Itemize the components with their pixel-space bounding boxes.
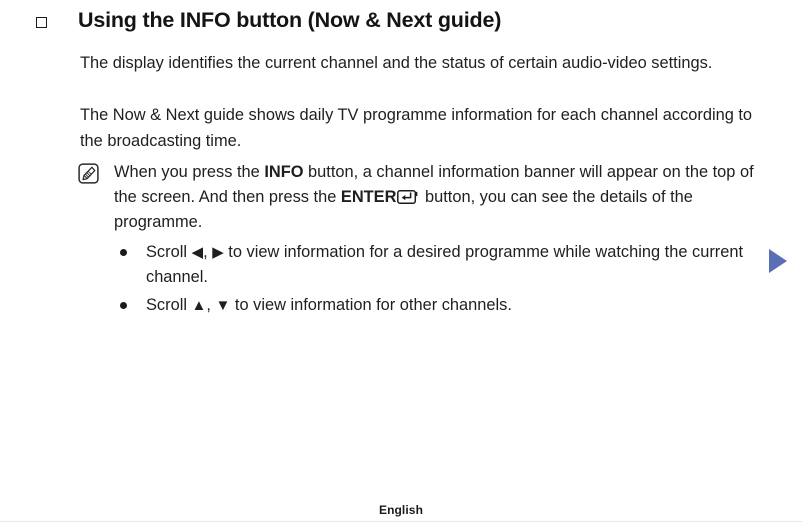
manual-page: Using the INFO button (Now & Next guide)… bbox=[0, 0, 802, 525]
arrow-down-icon: ▼ bbox=[216, 297, 231, 314]
next-page-arrow-icon[interactable] bbox=[769, 249, 787, 273]
dot-bullet-icon bbox=[120, 249, 127, 256]
list-item-text: Scroll ▲, ▼ to view information for othe… bbox=[146, 293, 756, 318]
note-keyword-enter: ENTER bbox=[341, 188, 397, 206]
section-heading: Using the INFO button (Now & Next guide) bbox=[36, 8, 766, 33]
arrow-up-icon: ▲ bbox=[192, 297, 207, 314]
enter-return-key-icon bbox=[397, 190, 419, 204]
note-text: When you press the INFO button, a channe… bbox=[114, 160, 768, 235]
body-paragraph-2: The Now & Next guide shows daily TV prog… bbox=[80, 102, 760, 154]
list-item-separator: , bbox=[206, 296, 215, 314]
hollow-square-bullet-icon bbox=[36, 17, 50, 31]
footer-language-label: English bbox=[0, 503, 802, 517]
arrow-left-icon: ◀ bbox=[192, 244, 204, 261]
scroll-instruction-list: Scroll ◀, ▶ to view information for a de… bbox=[120, 240, 770, 321]
note-block: When you press the INFO button, a channe… bbox=[78, 160, 768, 235]
list-item-separator: , bbox=[203, 243, 212, 261]
page-title: Using the INFO button (Now & Next guide) bbox=[78, 8, 501, 33]
arrow-right-icon: ▶ bbox=[212, 244, 224, 261]
list-item-suffix: to view information for other channels. bbox=[230, 296, 512, 314]
list-item-text: Scroll ◀, ▶ to view information for a de… bbox=[146, 240, 756, 290]
list-item: Scroll ▲, ▼ to view information for othe… bbox=[120, 293, 770, 318]
note-keyword-info: INFO bbox=[264, 163, 303, 181]
list-item-suffix: to view information for a desired progra… bbox=[146, 243, 743, 286]
list-item-prefix: Scroll bbox=[146, 296, 192, 314]
list-item: Scroll ◀, ▶ to view information for a de… bbox=[120, 240, 770, 290]
note-pencil-icon bbox=[78, 163, 99, 184]
footer-divider bbox=[0, 521, 802, 522]
dot-bullet-icon bbox=[120, 302, 127, 309]
body-paragraph-1: The display identifies the current chann… bbox=[80, 50, 760, 76]
note-segment-1: When you press the bbox=[114, 163, 264, 181]
list-item-prefix: Scroll bbox=[146, 243, 192, 261]
